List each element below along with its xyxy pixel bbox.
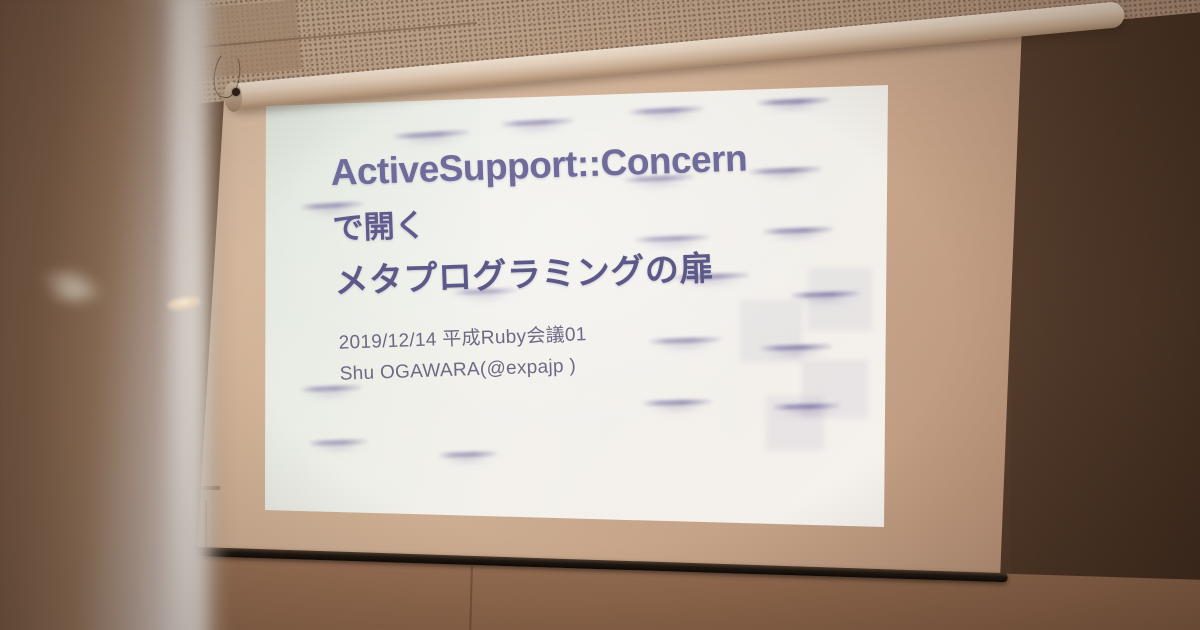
slide-subtitle-line2: メタプログラミングの扉 bbox=[334, 239, 752, 303]
photo-scene: ActiveSupport::Concern で開く メタプログラミングの扉 2… bbox=[0, 0, 1200, 630]
foreground-pillar-edge bbox=[170, 0, 222, 630]
slide-subtitle-line1: で開く bbox=[332, 188, 750, 248]
ceiling-downlight-glow bbox=[45, 280, 105, 306]
slide-text-group: ActiveSupport::Concern で開く メタプログラミングの扉 2… bbox=[330, 137, 754, 385]
slide-meta-date-event: 2019/12/14 平成Ruby会議01 bbox=[338, 313, 753, 354]
